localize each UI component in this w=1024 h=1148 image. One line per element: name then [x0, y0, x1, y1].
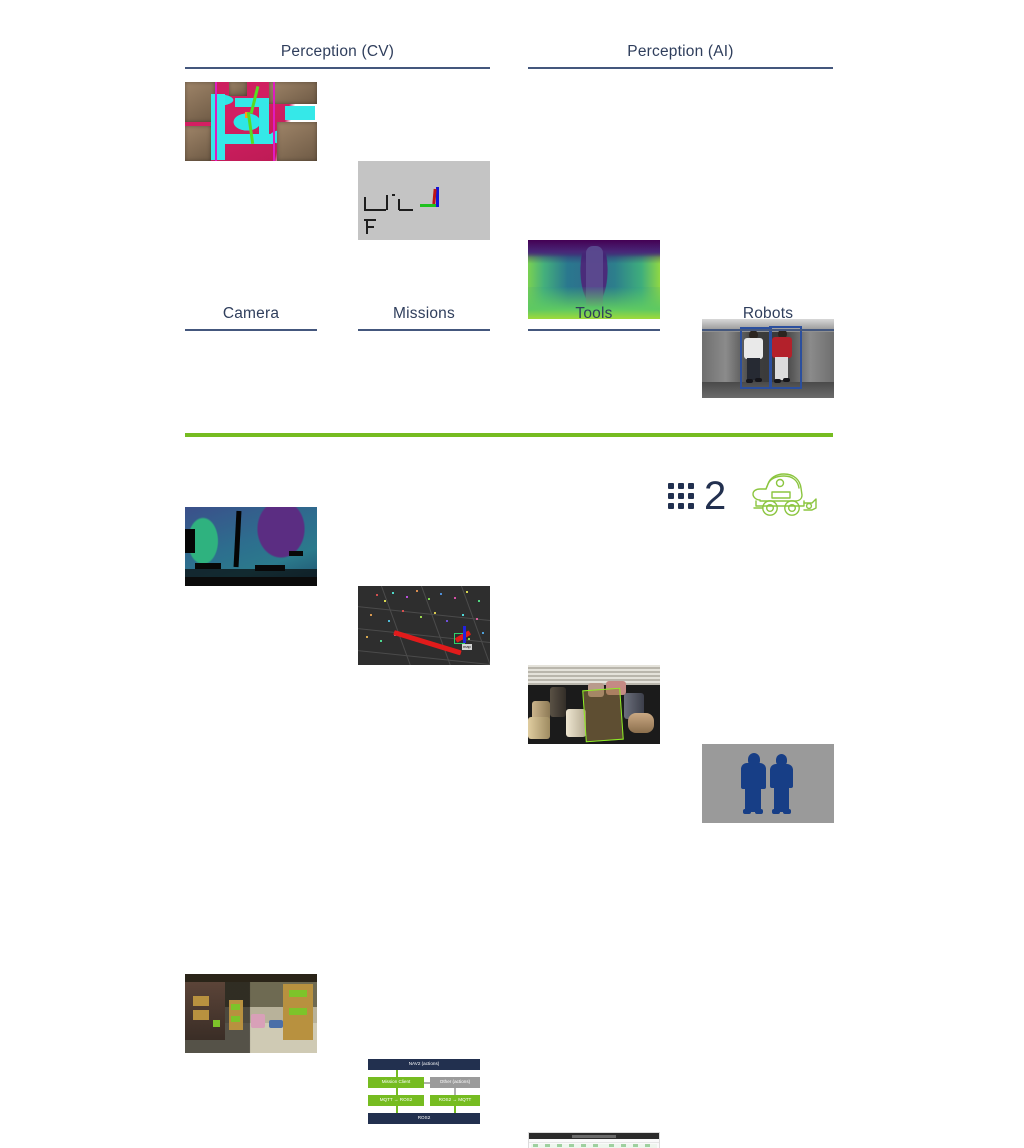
tile-slam-cloud: map	[358, 586, 490, 665]
detection-polygon	[582, 688, 624, 743]
green-divider-rule	[185, 433, 833, 437]
tools-titlebar	[529, 1133, 659, 1139]
section-header-robots: Robots	[702, 304, 834, 331]
section-title: Perception (AI)	[528, 42, 833, 62]
diagram-node-mission-client: Mission Client	[368, 1077, 424, 1088]
section-header-perception-ai: Perception (AI)	[528, 42, 833, 69]
footer-logo: 2	[668, 470, 820, 521]
diagram-node-ros2: ROS2	[368, 1113, 480, 1124]
tile-camera-hdr	[185, 974, 317, 1053]
section-rule	[528, 329, 660, 331]
tile-disparity-map	[185, 507, 317, 586]
tile-missions-diagram: NAV2 (actions) Mission Client Other (act…	[358, 1053, 490, 1132]
bounding-box	[740, 327, 772, 389]
section-rule	[185, 67, 490, 69]
tile-object-detection	[528, 665, 660, 744]
section-header-missions: Missions	[358, 304, 490, 331]
tile-segmented-map	[185, 82, 317, 161]
pose-arrow	[393, 630, 461, 655]
tile-occupancy-grid	[358, 161, 490, 240]
section-rule	[528, 67, 833, 69]
section-title: Robots	[702, 304, 834, 324]
frame-label: map	[462, 644, 472, 650]
bounding-box	[769, 326, 802, 389]
slide-number: 2	[704, 476, 726, 516]
dot-grid-icon	[668, 483, 694, 509]
section-title: Perception (CV)	[185, 42, 490, 62]
section-header-perception-cv: Perception (CV)	[185, 42, 490, 69]
section-title: Camera	[185, 304, 317, 324]
section-rule	[702, 329, 834, 331]
section-header-tools: Tools	[528, 304, 660, 331]
tile-silhouettes	[702, 744, 834, 823]
section-title: Missions	[358, 304, 490, 324]
diagram-node-mqtt-to-ros2: MQTT → ROS2	[368, 1095, 424, 1106]
section-header-camera: Camera	[185, 304, 317, 331]
robot-logo-icon	[746, 470, 820, 521]
tile-tools-trace	[528, 1132, 660, 1148]
diagram-node-ros2-to-mqtt: ROS2 → MQTT	[430, 1095, 480, 1106]
diagram-node-other-actions: Other (actions)	[430, 1077, 480, 1088]
slide-root: Perception (CV) Perception (AI)	[0, 0, 1024, 574]
diagram-node-nav2: NAV2 (actions)	[368, 1059, 480, 1070]
section-rule	[185, 329, 317, 331]
section-title: Tools	[528, 304, 660, 324]
section-rule	[358, 329, 490, 331]
